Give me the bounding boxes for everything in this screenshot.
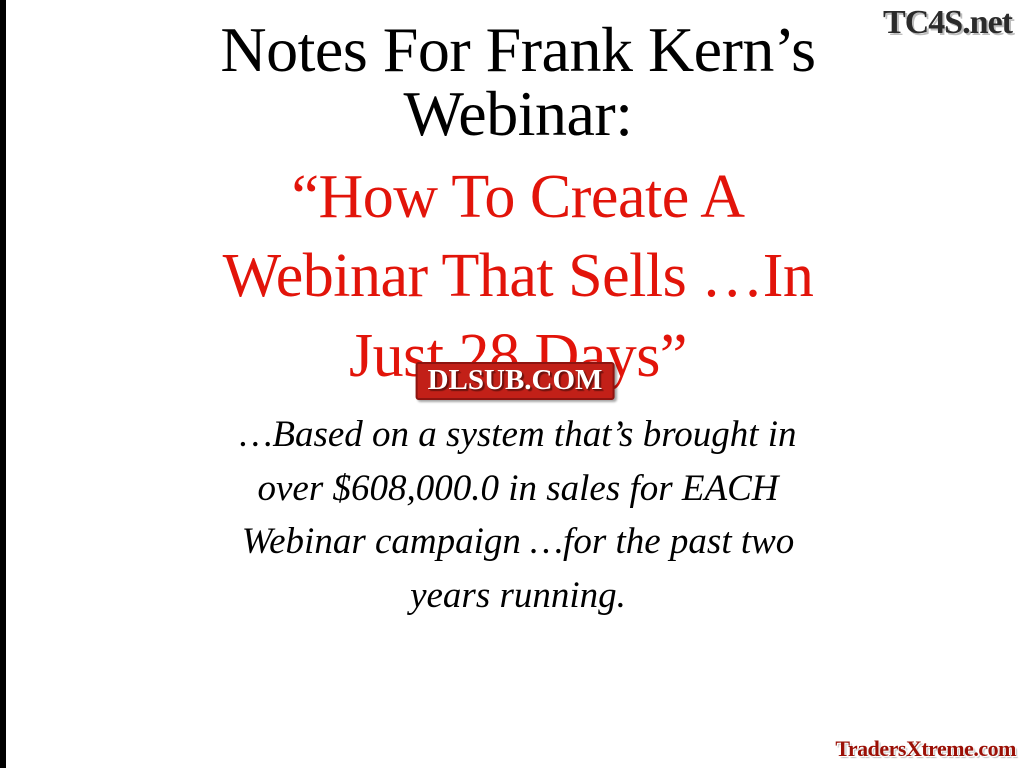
slide-subtitle-line-2: over $608,000.0 in sales for EACH (98, 462, 938, 516)
slide-content: Notes For Frank Kern’s Webinar: “How To … (6, 0, 1024, 623)
slide-subtitle-line-3: Webinar campaign …for the past two (98, 515, 938, 569)
watermark-center: DLSUB.COM (416, 362, 615, 400)
slide-title: Notes For Frank Kern’s Webinar: (6, 0, 1024, 146)
slide-headline: “How To Create A Webinar That Sells …In … (6, 146, 1024, 396)
watermark-top-right: TC4S.net (883, 4, 1012, 42)
slide-subtitle: …Based on a system that’s brought in ove… (98, 396, 938, 623)
slide-headline-line-1: “How To Create A (6, 158, 1024, 237)
slide-subtitle-line-1: …Based on a system that’s brought in (98, 408, 938, 462)
slide-title-line-1: Notes For Frank Kern’s (6, 18, 1024, 82)
watermark-bottom-right: TradersXtreme.com (835, 736, 1016, 762)
slide-headline-line-2: Webinar That Sells …In (6, 237, 1024, 316)
slide-title-line-2: Webinar: (6, 82, 1024, 146)
slide-subtitle-line-4: years running. (98, 569, 938, 623)
slide-canvas: Notes For Frank Kern’s Webinar: “How To … (0, 0, 1024, 768)
